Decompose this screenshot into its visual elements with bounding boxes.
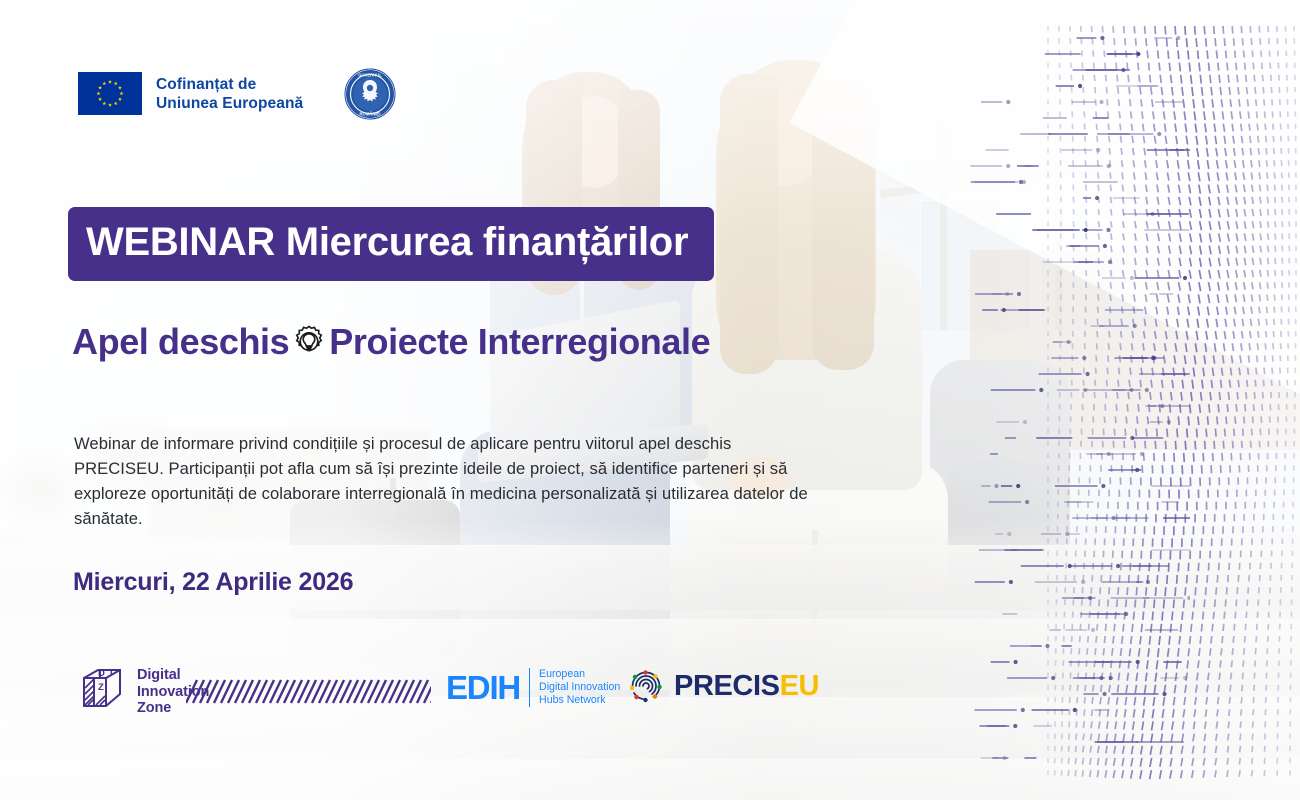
edih-subtitle: European Digital Innovation Hubs Network xyxy=(529,668,620,707)
romania-government-seal-icon: GUVERNUL ROMÂNIEI xyxy=(344,68,396,120)
preciseu-logo: PRECISEU xyxy=(628,668,819,704)
edih-wordmark: EDIH xyxy=(446,671,520,704)
eu-flag-icon xyxy=(78,72,142,115)
subtitle-text-before: Apel deschis xyxy=(72,318,289,366)
page-title: WEBINAR Miercurea finanțărilor xyxy=(86,220,688,264)
eu-funding-line2: Uniunea Europeană xyxy=(156,94,303,113)
preciseu-word-accent: EU xyxy=(780,670,820,702)
eu-funding-logo: Cofinanțat de Uniunea Europeană xyxy=(78,72,303,115)
eu-funding-text: Cofinanțat de Uniunea Europeană xyxy=(156,75,303,113)
edih-sub-line2: Digital Innovation xyxy=(539,681,620,694)
seal-bottom-text: ROMÂNIEI xyxy=(360,112,381,117)
preciseu-wordmark: PRECISEU xyxy=(674,671,819,701)
diz-cube-logo-icon: D I Z xyxy=(72,664,128,720)
seal-top-text: GUVERNUL xyxy=(358,72,382,77)
diz-letter-i: I xyxy=(110,668,113,679)
webinar-poster: Cofinanțat de Uniunea Europeană GUVERNUL… xyxy=(0,0,1300,800)
diagonal-stripes-decoration xyxy=(186,677,431,705)
preciseu-word-primary: PRECIS xyxy=(674,670,780,702)
subtitle-line: Apel deschis Proiecte Interregionale xyxy=(72,318,710,366)
eu-stars xyxy=(78,72,142,115)
diz-letter-z: Z xyxy=(98,682,104,693)
edih-logo: EDIH European Digital Innovation Hubs Ne… xyxy=(446,668,620,707)
footer-logo-bar: D I Z Digital Innovation Zone EDIH Europ… xyxy=(0,655,1300,735)
description-paragraph: Webinar de informare privind condițiile … xyxy=(74,431,814,531)
eu-funding-line1: Cofinanțat de xyxy=(156,75,303,94)
diz-letter-d: D xyxy=(98,668,105,679)
preciseu-fingerprint-icon xyxy=(628,668,664,704)
edih-sub-line1: European xyxy=(539,668,620,681)
edih-sub-line3: Hubs Network xyxy=(539,694,620,707)
gear-lightbulb-icon xyxy=(290,323,328,361)
subtitle-text-after: Proiecte Interregionale xyxy=(329,318,710,366)
event-date: Miercuri, 22 Aprilie 2026 xyxy=(73,568,353,597)
webinar-title-banner: WEBINAR Miercurea finanțărilor xyxy=(68,207,714,281)
